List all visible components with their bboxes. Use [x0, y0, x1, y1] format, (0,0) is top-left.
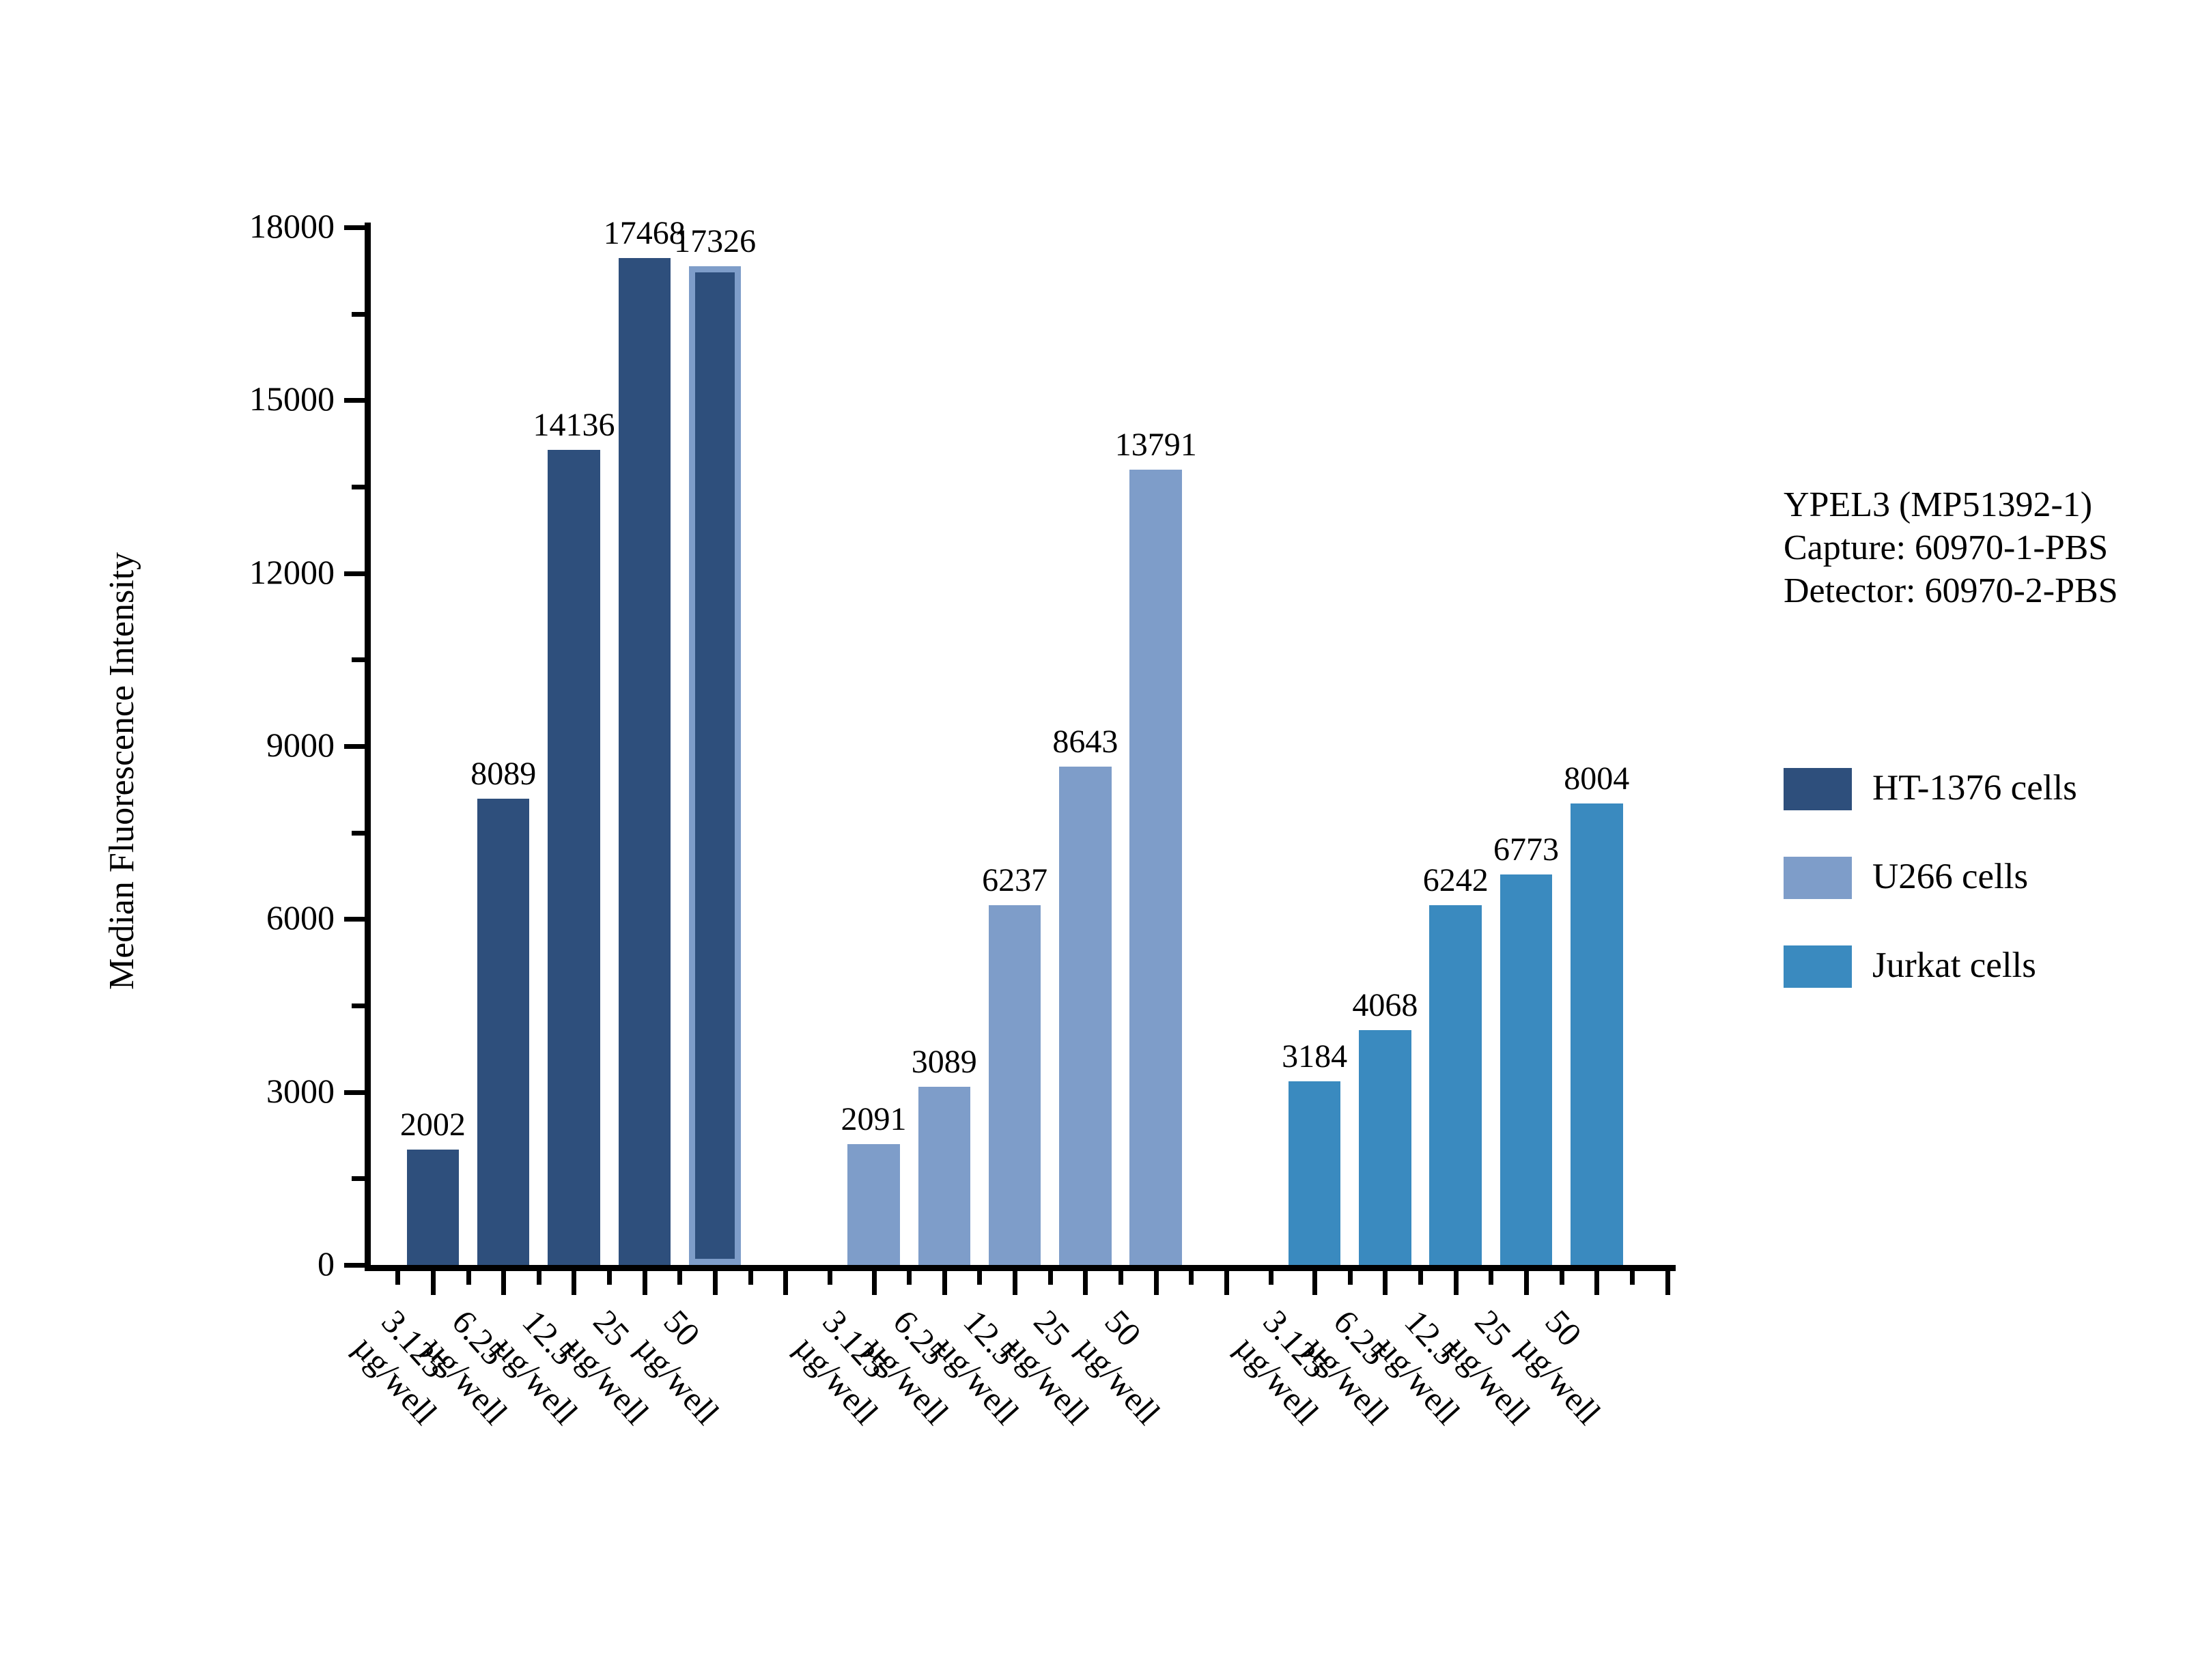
- bar-value-label: 8004: [1564, 763, 1629, 795]
- x-tick-minor: [1560, 1270, 1564, 1285]
- bar-group-item[interactable]: 6242: [1429, 227, 1481, 1265]
- bar-chart-figure: Median Fluorescence Intensity 0300060009…: [0, 0, 2196, 1680]
- x-tick-minor: [907, 1270, 912, 1285]
- x-tick-minor: [677, 1270, 682, 1285]
- bar[interactable]: [1500, 874, 1552, 1265]
- x-tick-minor: [1189, 1270, 1194, 1285]
- y-tick-major: [344, 744, 365, 749]
- bar[interactable]: [1289, 1081, 1340, 1265]
- y-tick-minor: [352, 1176, 365, 1181]
- legend-label: HT-1376 cells: [1872, 764, 2077, 812]
- bar[interactable]: [548, 450, 600, 1265]
- bar-value-label: 2002: [400, 1109, 466, 1141]
- bar-value-label: 13791: [1115, 429, 1197, 461]
- bar-group-item[interactable]: 17326: [689, 227, 741, 1265]
- x-tick-minor: [977, 1270, 982, 1285]
- x-tick-minor: [1489, 1270, 1493, 1285]
- bar[interactable]: [1059, 767, 1111, 1265]
- bar-value-label: 2091: [841, 1103, 907, 1136]
- y-tick-label: 9000: [0, 728, 335, 762]
- y-tick-major: [344, 917, 365, 922]
- bar-group-item[interactable]: 14136: [548, 227, 600, 1265]
- x-tick-minor: [1118, 1270, 1123, 1285]
- annotation-block: YPEL3 (MP51392-1) Capture: 60970-1-PBS D…: [1784, 483, 2118, 612]
- bar-group-item[interactable]: 8004: [1571, 227, 1622, 1265]
- bar-group-item[interactable]: 2002: [407, 227, 459, 1265]
- x-tick-major: [1524, 1270, 1529, 1295]
- legend-swatch: [1784, 857, 1852, 899]
- x-tick-major: [1454, 1270, 1459, 1295]
- y-tick-major: [344, 225, 365, 230]
- x-tick-major: [1665, 1270, 1670, 1295]
- y-tick-major: [344, 1090, 365, 1095]
- bar-group-item[interactable]: 8089: [477, 227, 529, 1265]
- legend-swatch: [1784, 945, 1852, 988]
- bar-group-item[interactable]: 6773: [1500, 227, 1552, 1265]
- x-tick-minor: [607, 1270, 612, 1285]
- x-tick-major: [713, 1270, 718, 1295]
- y-tick-minor: [352, 831, 365, 836]
- bar-group-item[interactable]: 8643: [1059, 227, 1111, 1265]
- x-tick-major: [942, 1270, 947, 1295]
- bar-group-item[interactable]: 3089: [918, 227, 970, 1265]
- x-tick-major: [643, 1270, 647, 1295]
- y-tick-minor: [352, 1003, 365, 1008]
- x-tick-minor: [1630, 1270, 1635, 1285]
- legend-swatch: [1784, 768, 1852, 810]
- bar-value-label: 14136: [533, 409, 615, 442]
- x-tick-minor: [1269, 1270, 1273, 1285]
- bar-group-item[interactable]: 2091: [847, 227, 899, 1265]
- x-tick-major: [1224, 1270, 1229, 1295]
- bar[interactable]: [1359, 1030, 1411, 1265]
- x-tick-major: [872, 1270, 877, 1295]
- legend-label: U266 cells: [1872, 853, 2028, 900]
- bar[interactable]: [989, 905, 1041, 1265]
- bar-value-label: 6773: [1493, 834, 1559, 866]
- x-tick-major: [501, 1270, 506, 1295]
- y-tick-major: [344, 571, 365, 576]
- x-tick-minor: [1418, 1270, 1423, 1285]
- annotation-line-detector: Detector: 60970-2-PBS: [1784, 569, 2118, 612]
- bar-value-label: 8089: [470, 758, 536, 791]
- x-tick-major: [783, 1270, 788, 1295]
- bar-group-item[interactable]: 4068: [1359, 227, 1411, 1265]
- bar[interactable]: [619, 258, 671, 1265]
- y-tick-label: 0: [0, 1247, 335, 1281]
- bar-group-item[interactable]: 13791: [1129, 227, 1181, 1265]
- y-tick-minor: [352, 485, 365, 489]
- x-tick-major: [431, 1270, 436, 1295]
- bar[interactable]: [477, 799, 529, 1265]
- y-tick-label: 6000: [0, 900, 335, 935]
- bar[interactable]: [1571, 803, 1622, 1265]
- bar-value-label: 4068: [1352, 989, 1418, 1022]
- x-tick-major: [572, 1270, 576, 1295]
- bar-value-label: 6237: [982, 864, 1047, 897]
- x-tick-major: [1154, 1270, 1159, 1295]
- y-tick-minor: [352, 657, 365, 662]
- bar-value-label: 17326: [674, 225, 756, 258]
- y-tick-major: [344, 398, 365, 403]
- x-tick-minor: [748, 1270, 753, 1285]
- x-tick-minor: [537, 1270, 541, 1285]
- x-tick-minor: [466, 1270, 471, 1285]
- bar-group-item[interactable]: 17468: [619, 227, 671, 1265]
- bar-group-item[interactable]: 6237: [989, 227, 1041, 1265]
- bar[interactable]: [847, 1144, 899, 1265]
- bar[interactable]: [918, 1087, 970, 1265]
- bar[interactable]: [1429, 905, 1481, 1265]
- y-tick-label: 15000: [0, 382, 335, 416]
- x-tick-major: [1312, 1270, 1317, 1295]
- bar-value-label: 17468: [604, 217, 686, 250]
- bar-value-label: 6242: [1423, 864, 1489, 897]
- x-tick-minor: [1348, 1270, 1353, 1285]
- y-tick-major: [344, 1263, 365, 1268]
- bar-value-label: 3184: [1282, 1040, 1347, 1073]
- annotation-line-target: YPEL3 (MP51392-1): [1784, 483, 2118, 526]
- bar[interactable]: [1129, 470, 1181, 1265]
- y-tick-minor: [352, 312, 365, 317]
- bar-value-label: 3089: [912, 1046, 977, 1079]
- y-axis-line: [365, 223, 371, 1270]
- x-axis-line: [365, 1265, 1676, 1271]
- x-tick-minor: [395, 1270, 400, 1285]
- bar-value-label: 8643: [1052, 726, 1118, 758]
- x-tick-major: [1083, 1270, 1088, 1295]
- annotation-line-capture: Capture: 60970-1-PBS: [1784, 526, 2118, 569]
- x-tick-major: [1013, 1270, 1017, 1295]
- bar-group-item[interactable]: 3184: [1289, 227, 1340, 1265]
- legend-label: Jurkat cells: [1872, 941, 2036, 989]
- y-tick-label: 18000: [0, 209, 335, 243]
- x-tick-minor: [1048, 1270, 1053, 1285]
- x-tick-major: [1594, 1270, 1599, 1295]
- plot-area: 2002808914136174681732620913089623786431…: [371, 227, 1676, 1265]
- bar[interactable]: [407, 1150, 459, 1265]
- y-tick-label: 3000: [0, 1074, 335, 1108]
- bar[interactable]: [689, 266, 741, 1265]
- x-tick-major: [1383, 1270, 1388, 1295]
- y-tick-label: 12000: [0, 555, 335, 589]
- x-tick-minor: [828, 1270, 832, 1285]
